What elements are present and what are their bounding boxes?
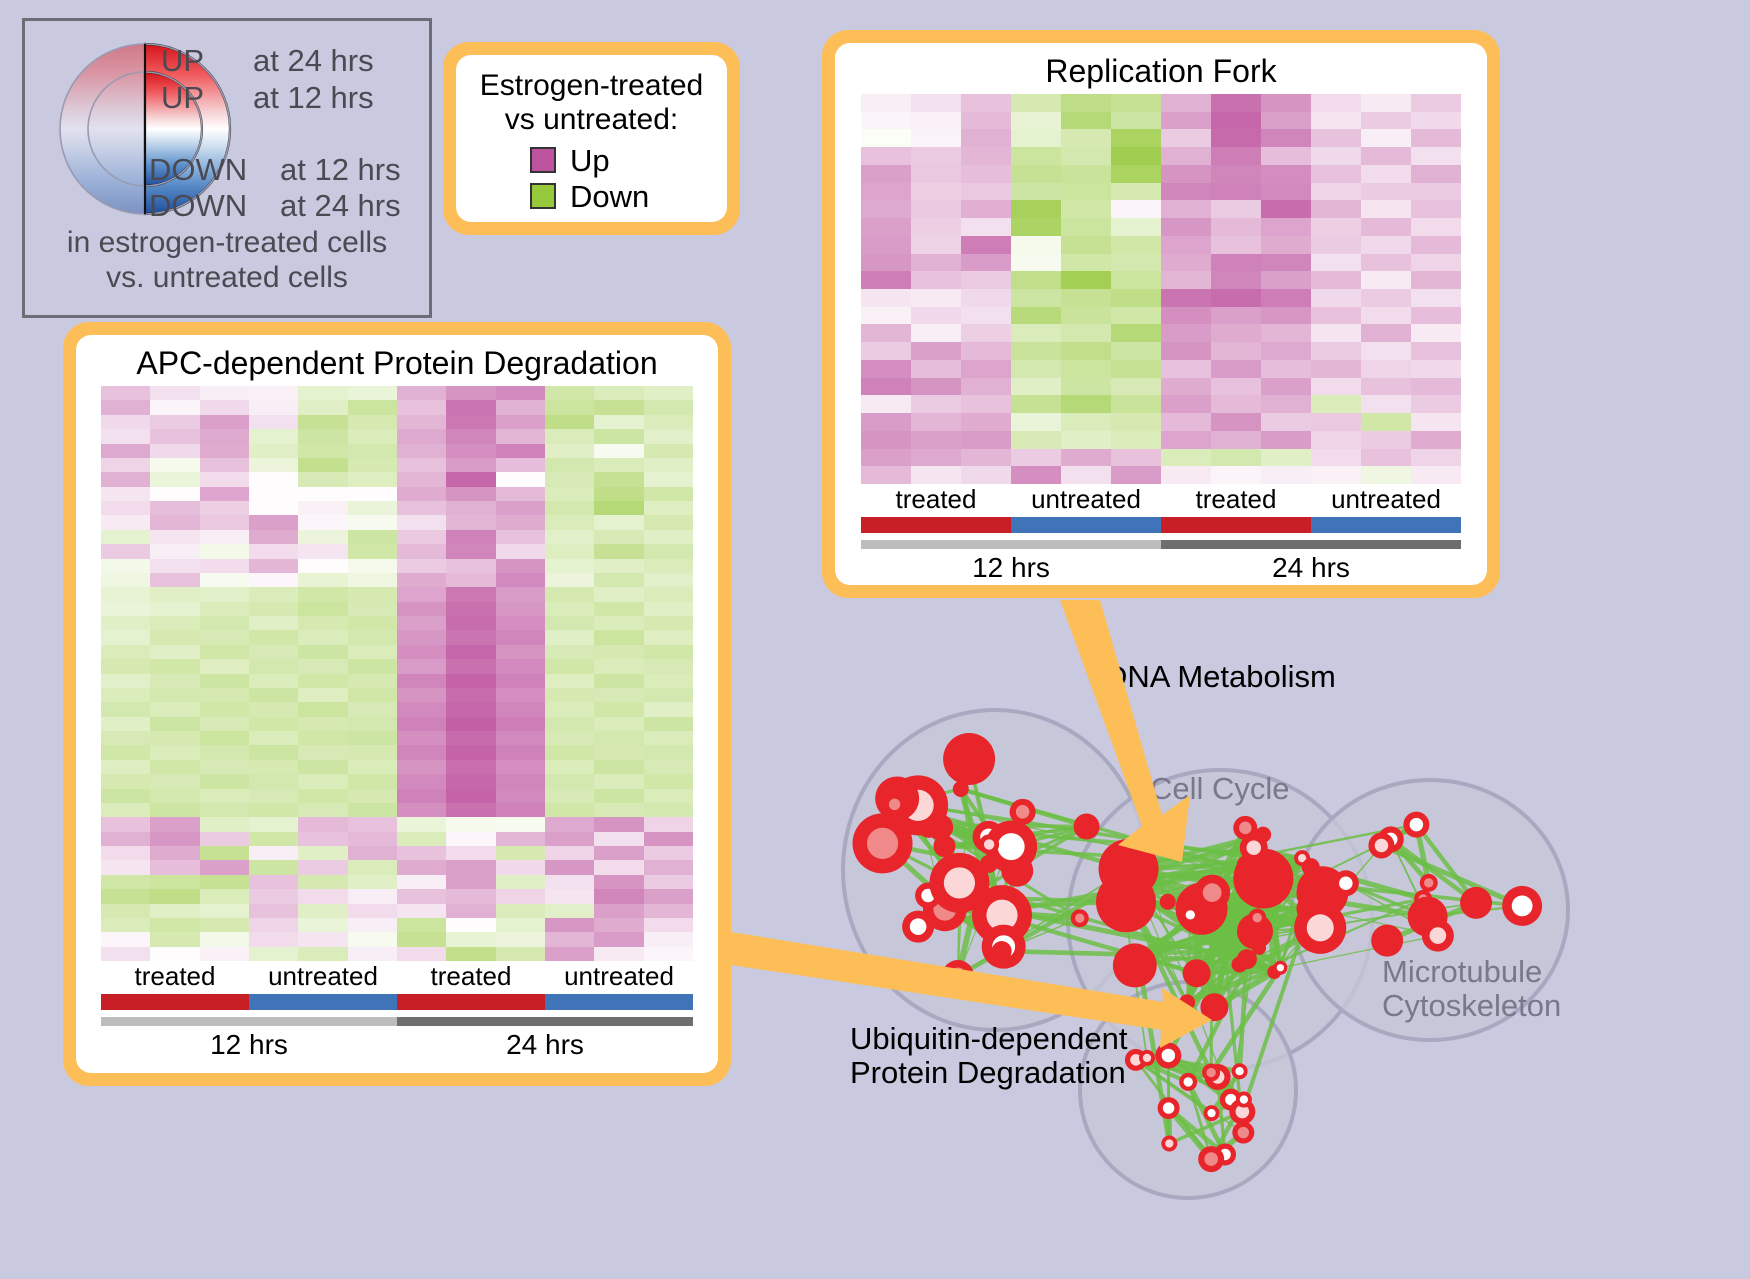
heatmap-cell (545, 616, 594, 630)
heatmap-cell (861, 449, 911, 467)
heatmap-cell (496, 947, 545, 961)
group-bar-segment (1011, 517, 1161, 533)
heatmap-cell (961, 342, 1011, 360)
heatmap-cell (644, 803, 693, 817)
heatmap-cell (1161, 271, 1211, 289)
heatmap-cell (961, 112, 1011, 130)
heatmap-cell (101, 602, 150, 616)
heatmap-cell (1411, 112, 1461, 130)
heatmap-cell (911, 378, 961, 396)
heatmap-cell (545, 559, 594, 573)
heatmap-cell (961, 147, 1011, 165)
heatmap-cell (1261, 466, 1311, 484)
figure-canvas: UP at 24 hrs UP at 12 hrs DOWN at 12 hrs… (0, 0, 1750, 1279)
network-node[interactable] (902, 911, 934, 943)
heatmap-cell (1261, 449, 1311, 467)
heatmap-cell (298, 458, 347, 472)
heatmap-cell (1261, 183, 1311, 201)
heatmap-cell (397, 846, 446, 860)
heatmap-cell (298, 674, 347, 688)
heatmap-cell (446, 918, 495, 932)
network-node[interactable] (1460, 887, 1492, 919)
heatmap-cell (1161, 324, 1211, 342)
heatmap-cell (594, 472, 643, 486)
heatmap-cell (348, 501, 397, 515)
heatmap-cell (1211, 236, 1261, 254)
network-node[interactable] (1294, 902, 1346, 954)
heatmap-cell (1211, 466, 1261, 484)
heatmap-cell (496, 702, 545, 716)
heatmap-cell (446, 616, 495, 630)
network-node[interactable] (1099, 839, 1159, 899)
heatmap-cell (1111, 289, 1161, 307)
heatmap-cell (1361, 200, 1411, 218)
heatmap-cell (1061, 129, 1111, 147)
heatmap-cell (348, 487, 397, 501)
heatmap-cell (594, 530, 643, 544)
heatmap-cell (496, 429, 545, 443)
heatmap-cell (249, 817, 298, 831)
heatmap-cell (644, 587, 693, 601)
heatmap-cell (397, 817, 446, 831)
heatmap-cell (1311, 218, 1361, 236)
heatmap-cell (1161, 112, 1211, 130)
network-node[interactable] (884, 793, 906, 815)
heatmap-cell (397, 889, 446, 903)
network-node[interactable] (1368, 832, 1394, 858)
heatmap-cell (101, 386, 150, 400)
heatmap-cell (911, 271, 961, 289)
heatmap-cell (348, 918, 397, 932)
heatmap-cell (348, 789, 397, 803)
heatmap-cell (545, 889, 594, 903)
heatmap-cell (545, 429, 594, 443)
heatmap-cell (1411, 271, 1461, 289)
heatmap-cell (397, 947, 446, 961)
heatmap-cell (298, 645, 347, 659)
heatmap-cell (1161, 94, 1211, 112)
heatmap-cell (200, 889, 249, 903)
heatmap-cell (200, 875, 249, 889)
heatmap-cell (594, 559, 643, 573)
heatmap-cell (348, 702, 397, 716)
heatmap-cell (644, 659, 693, 673)
heatmap-cell (298, 602, 347, 616)
heatmap-cell (496, 544, 545, 558)
network-node[interactable] (1194, 875, 1230, 911)
heatmap-cell (298, 530, 347, 544)
heatmap-cell (644, 444, 693, 458)
group-bar-segment (249, 994, 397, 1010)
time-label: 12 hrs (101, 1029, 397, 1061)
heatmap-cell (861, 147, 911, 165)
heatmap-cell (249, 932, 298, 946)
heatmap-cell (1061, 254, 1111, 272)
heatmap-cell (249, 587, 298, 601)
heatmap-cell (200, 573, 249, 587)
heatmap-cell (911, 466, 961, 484)
heatmap-cell (1311, 449, 1361, 467)
heatmap-cell (1361, 94, 1411, 112)
heatmap-cell (397, 789, 446, 803)
heatmap-cell (644, 904, 693, 918)
group-bar-segment (397, 994, 545, 1010)
network-node[interactable] (1158, 1097, 1180, 1119)
heatmap-cell (249, 487, 298, 501)
heatmap-cell (348, 458, 397, 472)
heatmap-cell (594, 501, 643, 515)
network-node[interactable] (979, 834, 999, 854)
heatmap-cell (1311, 378, 1361, 396)
replication-fork-time-labels: 12 hrs24 hrs (861, 552, 1461, 584)
group-bar-segment (1161, 517, 1311, 533)
heatmap-cell (961, 94, 1011, 112)
heatmap-cell (446, 559, 495, 573)
heatmap-cell (150, 587, 199, 601)
heatmap-cell (200, 932, 249, 946)
group-label: untreated (545, 961, 693, 992)
network-node[interactable] (1273, 961, 1287, 975)
network-node[interactable] (942, 960, 974, 992)
network-node[interactable] (1160, 894, 1176, 910)
replication-fork-panel: Replication Fork treateduntreatedtreated… (822, 30, 1500, 598)
heatmap-cell (1061, 289, 1111, 307)
heatmap-cell (249, 544, 298, 558)
heatmap-cell (545, 860, 594, 874)
network-node[interactable] (1237, 949, 1257, 969)
heatmap-cell (1361, 307, 1411, 325)
network-node[interactable] (1179, 1073, 1197, 1091)
network-node[interactable] (943, 733, 995, 785)
network-node[interactable] (1161, 1135, 1177, 1151)
cluster-label-line: Ubiquitin-dependent (850, 1022, 1128, 1056)
heatmap-cell (1211, 218, 1261, 236)
network-node[interactable] (1198, 1146, 1224, 1172)
heatmap-cell (496, 458, 545, 472)
heatmap-cell (446, 630, 495, 644)
up-color-swatch (530, 147, 556, 173)
heatmap-cell (298, 444, 347, 458)
heatmap-cell (644, 774, 693, 788)
heatmap-cell (397, 760, 446, 774)
updown-legend-panel: Estrogen-treated vs untreated: Up Down (443, 42, 740, 235)
colorwheel-caption-line1: in estrogen-treated cells (25, 226, 429, 261)
heatmap-cell (1011, 289, 1061, 307)
heatmap-cell (150, 789, 199, 803)
heatmap-cell (298, 717, 347, 731)
heatmap-cell (594, 789, 643, 803)
heatmap-cell (594, 745, 643, 759)
heatmap-cell (1011, 360, 1061, 378)
heatmap-cell (1261, 200, 1311, 218)
network-node[interactable] (1010, 799, 1036, 825)
network-node[interactable] (1236, 1092, 1252, 1108)
heatmap-cell (1261, 324, 1311, 342)
heatmap-cell (397, 745, 446, 759)
heatmap-cell (545, 472, 594, 486)
group-label: untreated (1311, 484, 1461, 515)
heatmap-cell (1261, 342, 1311, 360)
heatmap-cell (545, 918, 594, 932)
heatmap-cell (594, 688, 643, 702)
heatmap-cell (1111, 129, 1161, 147)
heatmap-cell (644, 386, 693, 400)
heatmap-cell (446, 745, 495, 759)
heatmap-cell (911, 183, 961, 201)
heatmap-cell (1211, 94, 1261, 112)
heatmap-cell (496, 515, 545, 529)
heatmap-cell (594, 918, 643, 932)
heatmap-cell (644, 501, 693, 515)
heatmap-cell (200, 731, 249, 745)
heatmap-cell (1411, 218, 1461, 236)
heatmap-cell (298, 415, 347, 429)
heatmap-cell (446, 817, 495, 831)
network-node[interactable] (1502, 886, 1542, 926)
heatmap-cell (911, 147, 961, 165)
heatmap-cell (1311, 254, 1361, 272)
heatmap-cell (1061, 395, 1111, 413)
heatmap-cell (644, 932, 693, 946)
legend-item-down: Down (530, 178, 727, 214)
apc-group-labels: treateduntreatedtreateduntreated (101, 961, 693, 992)
network-node[interactable] (1074, 814, 1100, 840)
heatmap-cell (545, 717, 594, 731)
heatmap-cell (961, 360, 1011, 378)
heatmap-cell (249, 702, 298, 716)
heatmap-cell (348, 645, 397, 659)
heatmap-cell (249, 444, 298, 458)
heatmap-cell (1011, 466, 1061, 484)
heatmap-cell (101, 918, 150, 932)
heatmap-cell (150, 645, 199, 659)
heatmap-cell (1411, 165, 1461, 183)
heatmap-cell (298, 904, 347, 918)
heatmap-cell (200, 803, 249, 817)
heatmap-cell (1011, 413, 1061, 431)
updown-legend-title-line2: vs untreated: (456, 103, 727, 137)
heatmap-cell (397, 501, 446, 515)
heatmap-cell (861, 466, 911, 484)
heatmap-cell (249, 875, 298, 889)
heatmap-cell (1411, 395, 1461, 413)
heatmap-cell (298, 875, 347, 889)
heatmap-cell (644, 645, 693, 659)
heatmap-cell (446, 674, 495, 688)
heatmap-cell (1161, 466, 1211, 484)
heatmap-cell (150, 472, 199, 486)
heatmap-cell (298, 587, 347, 601)
heatmap-cell (1311, 342, 1361, 360)
network-node[interactable] (1333, 870, 1359, 896)
heatmap-cell (249, 415, 298, 429)
network-node[interactable] (933, 835, 955, 857)
heatmap-cell (496, 774, 545, 788)
network-node[interactable] (929, 853, 989, 913)
heatmap-cell (249, 717, 298, 731)
network-node[interactable] (1371, 925, 1403, 957)
network-node[interactable] (1204, 1105, 1220, 1121)
heatmap-cell (446, 688, 495, 702)
heatmap-cell (298, 501, 347, 515)
heatmap-cell (545, 932, 594, 946)
heatmap-cell (594, 444, 643, 458)
heatmap-cell (397, 774, 446, 788)
network-node[interactable] (1155, 1042, 1181, 1068)
apc-time-bar (101, 1017, 693, 1026)
heatmap-cell (496, 530, 545, 544)
cluster-label-line: Microtubule (1382, 955, 1561, 989)
heatmap-cell (1361, 342, 1411, 360)
apc-title: APC-dependent Protein Degradation (76, 335, 718, 382)
network-node[interactable] (1232, 1063, 1248, 1079)
heatmap-cell (298, 573, 347, 587)
heatmap-cell (961, 183, 1011, 201)
heatmap-cell (545, 501, 594, 515)
heatmap-cell (1261, 112, 1311, 130)
heatmap-cell (1361, 236, 1411, 254)
heatmap-cell (1061, 324, 1111, 342)
network-node[interactable] (1232, 1122, 1254, 1144)
heatmap-cell (1211, 165, 1261, 183)
heatmap-cell (446, 947, 495, 961)
heatmap-cell (1061, 307, 1111, 325)
heatmap-cell (1311, 324, 1361, 342)
network-node[interactable] (1200, 993, 1228, 1021)
heatmap-cell (1411, 254, 1461, 272)
heatmap-cell (496, 559, 545, 573)
heatmap-cell (446, 702, 495, 716)
heatmap-cell (644, 918, 693, 932)
heatmap-cell (961, 466, 1011, 484)
heatmap-cell (861, 94, 911, 112)
heatmap-cell (644, 745, 693, 759)
heatmap-cell (1161, 449, 1211, 467)
heatmap-cell (594, 760, 643, 774)
heatmap-cell (644, 530, 693, 544)
network-node[interactable] (1071, 909, 1089, 927)
heatmap-cell (397, 674, 446, 688)
heatmap-cell (1411, 466, 1461, 484)
heatmap-cell (101, 616, 150, 630)
heatmap-cell (397, 472, 446, 486)
heatmap-cell (150, 573, 199, 587)
heatmap-cell (150, 745, 199, 759)
heatmap-cell (101, 789, 150, 803)
network-node[interactable] (953, 781, 969, 797)
heatmap-cell (1211, 200, 1261, 218)
heatmap-cell (1111, 449, 1161, 467)
heatmap-cell (200, 630, 249, 644)
heatmap-cell (545, 630, 594, 644)
heatmap-cell (200, 760, 249, 774)
heatmap-cell (644, 688, 693, 702)
network-node[interactable] (1183, 959, 1211, 987)
heatmap-cell (298, 889, 347, 903)
heatmap-cell (496, 386, 545, 400)
heatmap-cell (1011, 378, 1061, 396)
wheel-time-2: at 12 hrs (280, 152, 401, 188)
heatmap-cell (496, 846, 545, 860)
heatmap-cell (446, 415, 495, 429)
replication-fork-time-bar (861, 540, 1461, 549)
network-node[interactable] (1420, 874, 1438, 892)
network-node[interactable] (1403, 812, 1429, 838)
heatmap-cell (911, 431, 961, 449)
heatmap-cell (150, 444, 199, 458)
replication-fork-heatmap (861, 94, 1461, 484)
heatmap-cell (249, 846, 298, 860)
heatmap-cell (348, 415, 397, 429)
heatmap-cell (1361, 147, 1411, 165)
replication-fork-group-labels: treateduntreatedtreateduntreated (861, 484, 1461, 515)
heatmap-cell (446, 530, 495, 544)
heatmap-cell (150, 947, 199, 961)
heatmap-cell (1061, 165, 1111, 183)
heatmap-cell (446, 875, 495, 889)
heatmap-cell (1361, 165, 1411, 183)
heatmap-cell (101, 400, 150, 414)
heatmap-cell (1261, 307, 1311, 325)
heatmap-cell (961, 271, 1011, 289)
network-node[interactable] (1113, 943, 1157, 987)
heatmap-cell (1161, 431, 1211, 449)
heatmap-cell (101, 745, 150, 759)
heatmap-cell (397, 530, 446, 544)
heatmap-cell (101, 947, 150, 961)
network-node[interactable] (1181, 906, 1199, 924)
network-node[interactable] (1422, 920, 1454, 952)
cluster-label-line: Protein Degradation (850, 1056, 1128, 1090)
heatmap-cell (200, 544, 249, 558)
heatmap-cell (1411, 147, 1461, 165)
heatmap-cell (298, 860, 347, 874)
network-node[interactable] (992, 941, 1012, 961)
heatmap-cell (200, 645, 249, 659)
network-node[interactable] (1240, 834, 1268, 862)
network-node[interactable] (1139, 1050, 1155, 1066)
heatmap-cell (348, 630, 397, 644)
network-node[interactable] (1248, 909, 1266, 927)
heatmap-cell (446, 717, 495, 731)
group-label: treated (397, 961, 545, 992)
heatmap-cell (101, 515, 150, 529)
heatmap-cell (1011, 307, 1061, 325)
heatmap-cell (861, 200, 911, 218)
heatmap-cell (348, 688, 397, 702)
heatmap-cell (644, 875, 693, 889)
heatmap-cell (545, 515, 594, 529)
heatmap-cell (911, 324, 961, 342)
network-node[interactable] (1202, 1064, 1220, 1082)
heatmap-cell (1411, 449, 1461, 467)
heatmap-cell (861, 129, 911, 147)
heatmap-cell (1311, 289, 1361, 307)
heatmap-cell (101, 530, 150, 544)
heatmap-cell (1361, 413, 1411, 431)
heatmap-cell (961, 289, 1011, 307)
heatmap-cell (249, 832, 298, 846)
heatmap-cell (1011, 129, 1061, 147)
heatmap-cell (446, 386, 495, 400)
heatmap-cell (644, 789, 693, 803)
heatmap-cell (1261, 360, 1311, 378)
heatmap-cell (348, 544, 397, 558)
wheel-time-0: at 24 hrs (253, 43, 374, 79)
heatmap-cell (594, 674, 643, 688)
heatmap-cell (644, 846, 693, 860)
network-node[interactable] (1179, 994, 1195, 1010)
